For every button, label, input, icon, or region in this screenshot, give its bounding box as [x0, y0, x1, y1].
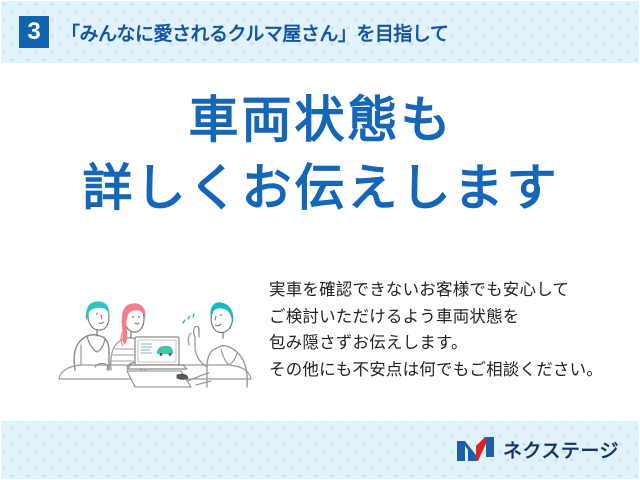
consultation-illustration [51, 275, 261, 405]
headline-line-1: 車両状態も [1, 95, 640, 145]
banner-header-title: 「みんなに愛されるクルマ屋さん」を目指して [61, 19, 448, 46]
body-copy-line-4: その他にも不安点は何でもご相談ください。 [269, 357, 640, 384]
body-copy-line-2: ご検討いただけるよう車両状態を [269, 304, 640, 331]
consultation-illustration-svg [51, 275, 261, 405]
banner-footer: ネクステージ [1, 419, 640, 479]
nextage-logo-text: ネクステージ [503, 436, 619, 463]
section-number-badge: 3 [19, 16, 49, 48]
nextage-n-mark-icon [456, 436, 496, 462]
body-copy-line-3: 包み隠さずお伝えします。 [269, 330, 640, 357]
content-card: 車両状態も 詳しくお伝えします [1, 63, 640, 421]
nextage-logo: ネクステージ [456, 436, 619, 463]
promo-banner: 3 「みんなに愛されるクルマ屋さん」を目指して 車両状態も 詳しくお伝えします [0, 0, 640, 480]
headline: 車両状態も 詳しくお伝えします [1, 95, 640, 213]
body-copy: 実車を確認できないお客様でも安心して ご検討いただけるよう車両状態を 包み隠さず… [269, 277, 640, 384]
headline-line-2: 詳しくお伝えします [1, 163, 640, 213]
banner-header: 3 「みんなに愛されるクルマ屋さん」を目指して [1, 1, 640, 63]
lower-section: 実車を確認できないお客様でも安心して ご検討いただけるよう車両状態を 包み隠さず… [1, 273, 640, 413]
body-copy-line-1: 実車を確認できないお客様でも安心して [269, 277, 640, 304]
